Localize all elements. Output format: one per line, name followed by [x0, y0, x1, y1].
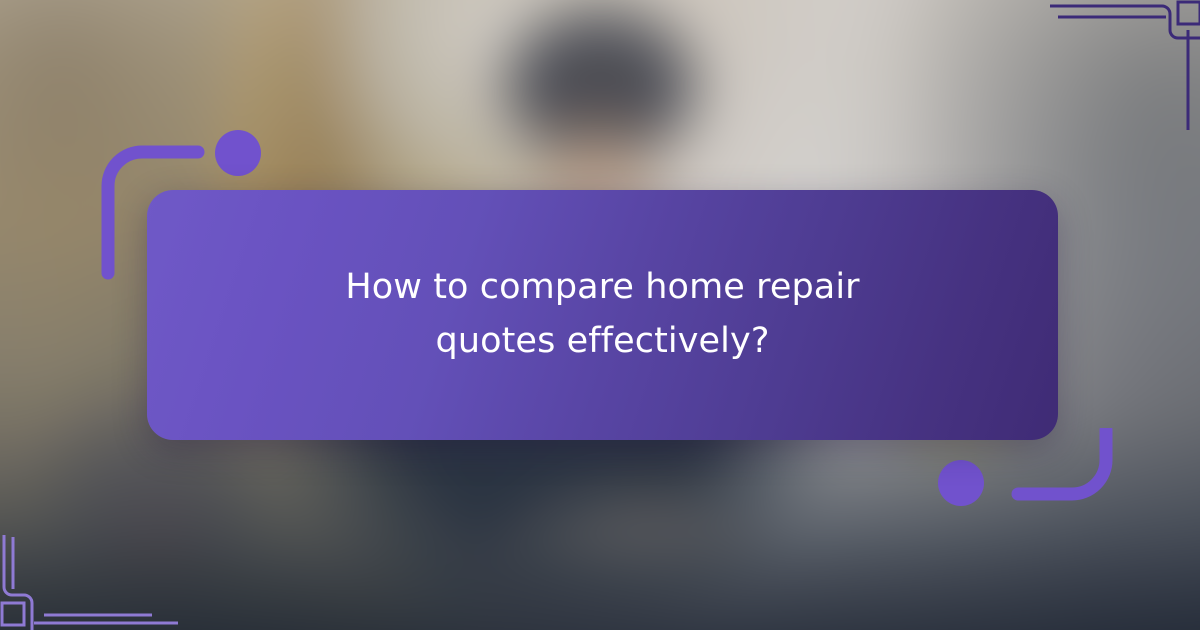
banner-canvas: How to compare home repair quotes effect… [0, 0, 1200, 630]
background-floor-vignette [0, 532, 1200, 630]
quote-card: How to compare home repair quotes effect… [147, 190, 1058, 440]
page-title: How to compare home repair quotes effect… [283, 261, 923, 368]
